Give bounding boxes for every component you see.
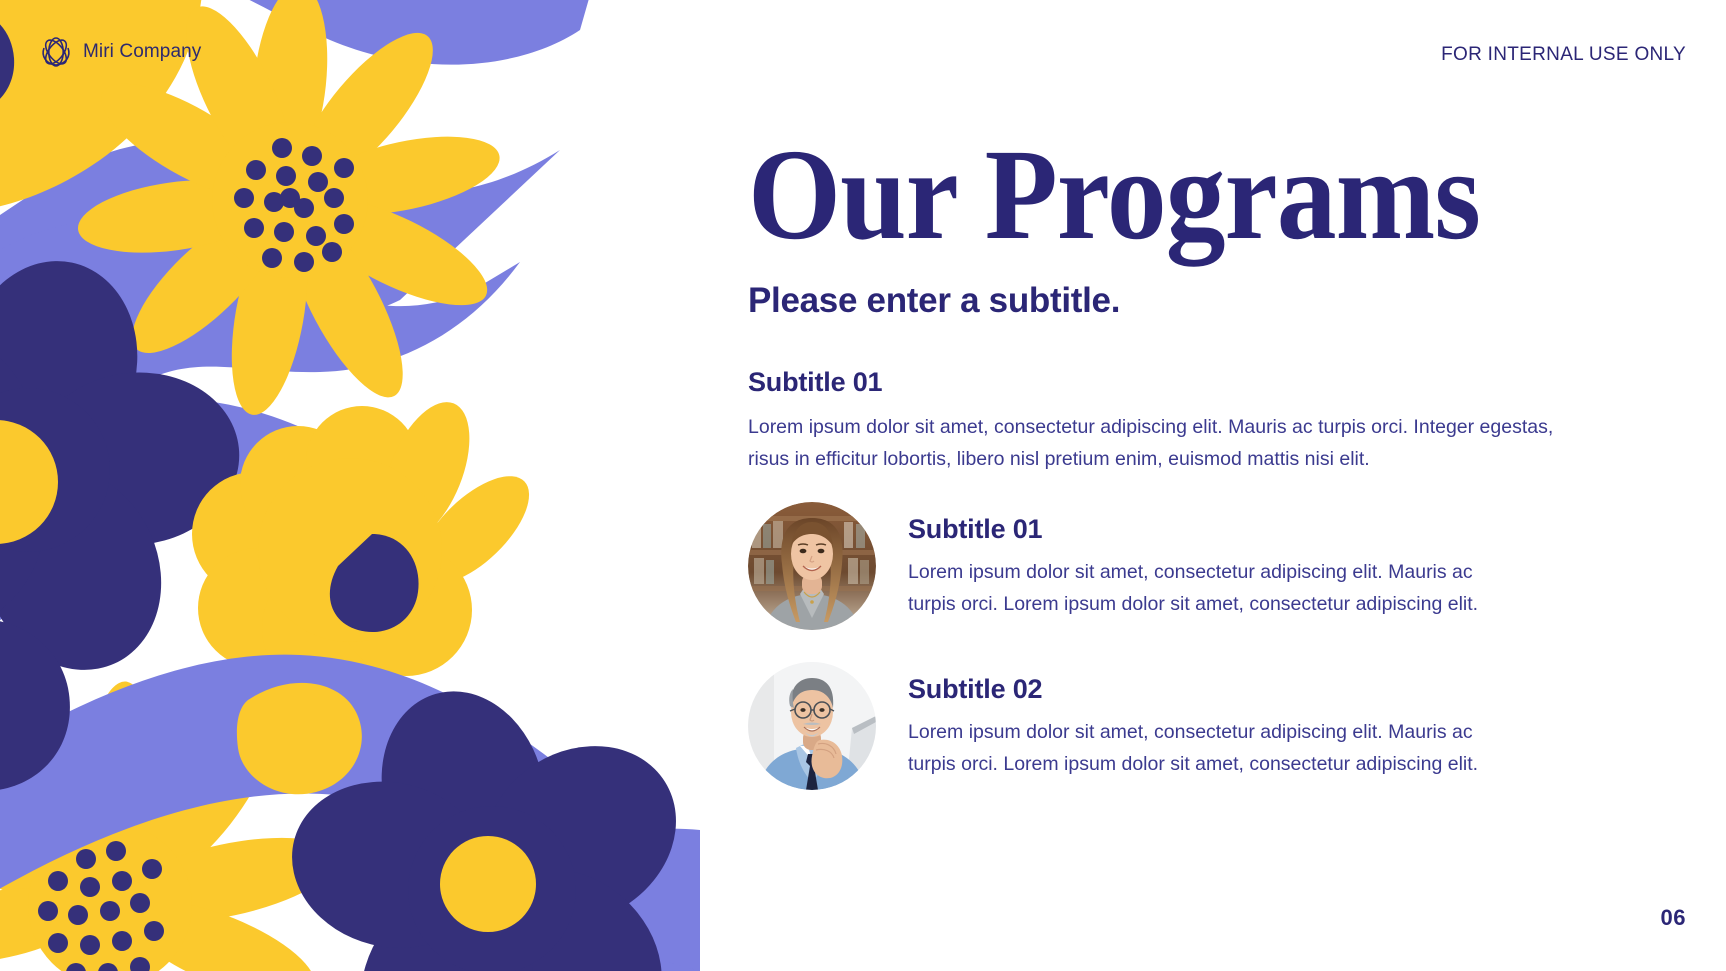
- person-paragraph: Lorem ipsum dolor sit amet, consectetur …: [908, 717, 1508, 780]
- person-text: Subtitle 02 Lorem ipsum dolor sit amet, …: [908, 662, 1508, 780]
- intro-heading: Subtitle 01: [748, 367, 1566, 398]
- page-subtitle: Please enter a subtitle.: [748, 283, 1120, 318]
- intro-paragraph: Lorem ipsum dolor sit amet, consectetur …: [748, 412, 1566, 475]
- portrait-man-blue-shirt-avatar: [748, 662, 876, 790]
- person-heading: Subtitle 02: [908, 674, 1508, 705]
- page-title: Our Programs: [748, 133, 1480, 258]
- person-text: Subtitle 01 Lorem ipsum dolor sit amet, …: [908, 502, 1508, 620]
- tulip-flower-icon: [38, 34, 74, 68]
- brand-name: Miri Company: [83, 42, 201, 61]
- person-paragraph: Lorem ipsum dolor sit amet, consectetur …: [908, 557, 1508, 620]
- list-item: Subtitle 02 Lorem ipsum dolor sit amet, …: [748, 662, 1568, 790]
- person-heading: Subtitle 01: [908, 514, 1508, 545]
- page-number: 06: [1661, 905, 1686, 931]
- confidentiality-note: FOR INTERNAL USE ONLY: [1441, 44, 1686, 66]
- people-list: Subtitle 01 Lorem ipsum dolor sit amet, …: [748, 502, 1568, 822]
- slide-content: Our Programs Please enter a subtitle. Su…: [748, 0, 1688, 971]
- presentation-slide: Miri Company FOR INTERNAL USE ONLY Our P…: [0, 0, 1726, 971]
- intro-section: Subtitle 01 Lorem ipsum dolor sit amet, …: [748, 367, 1566, 475]
- list-item: Subtitle 01 Lorem ipsum dolor sit amet, …: [748, 502, 1568, 630]
- portrait-woman-bookshelf-avatar: [748, 502, 876, 630]
- abstract-floral-illustration: [0, 0, 700, 971]
- brand-logo[interactable]: Miri Company: [38, 34, 201, 68]
